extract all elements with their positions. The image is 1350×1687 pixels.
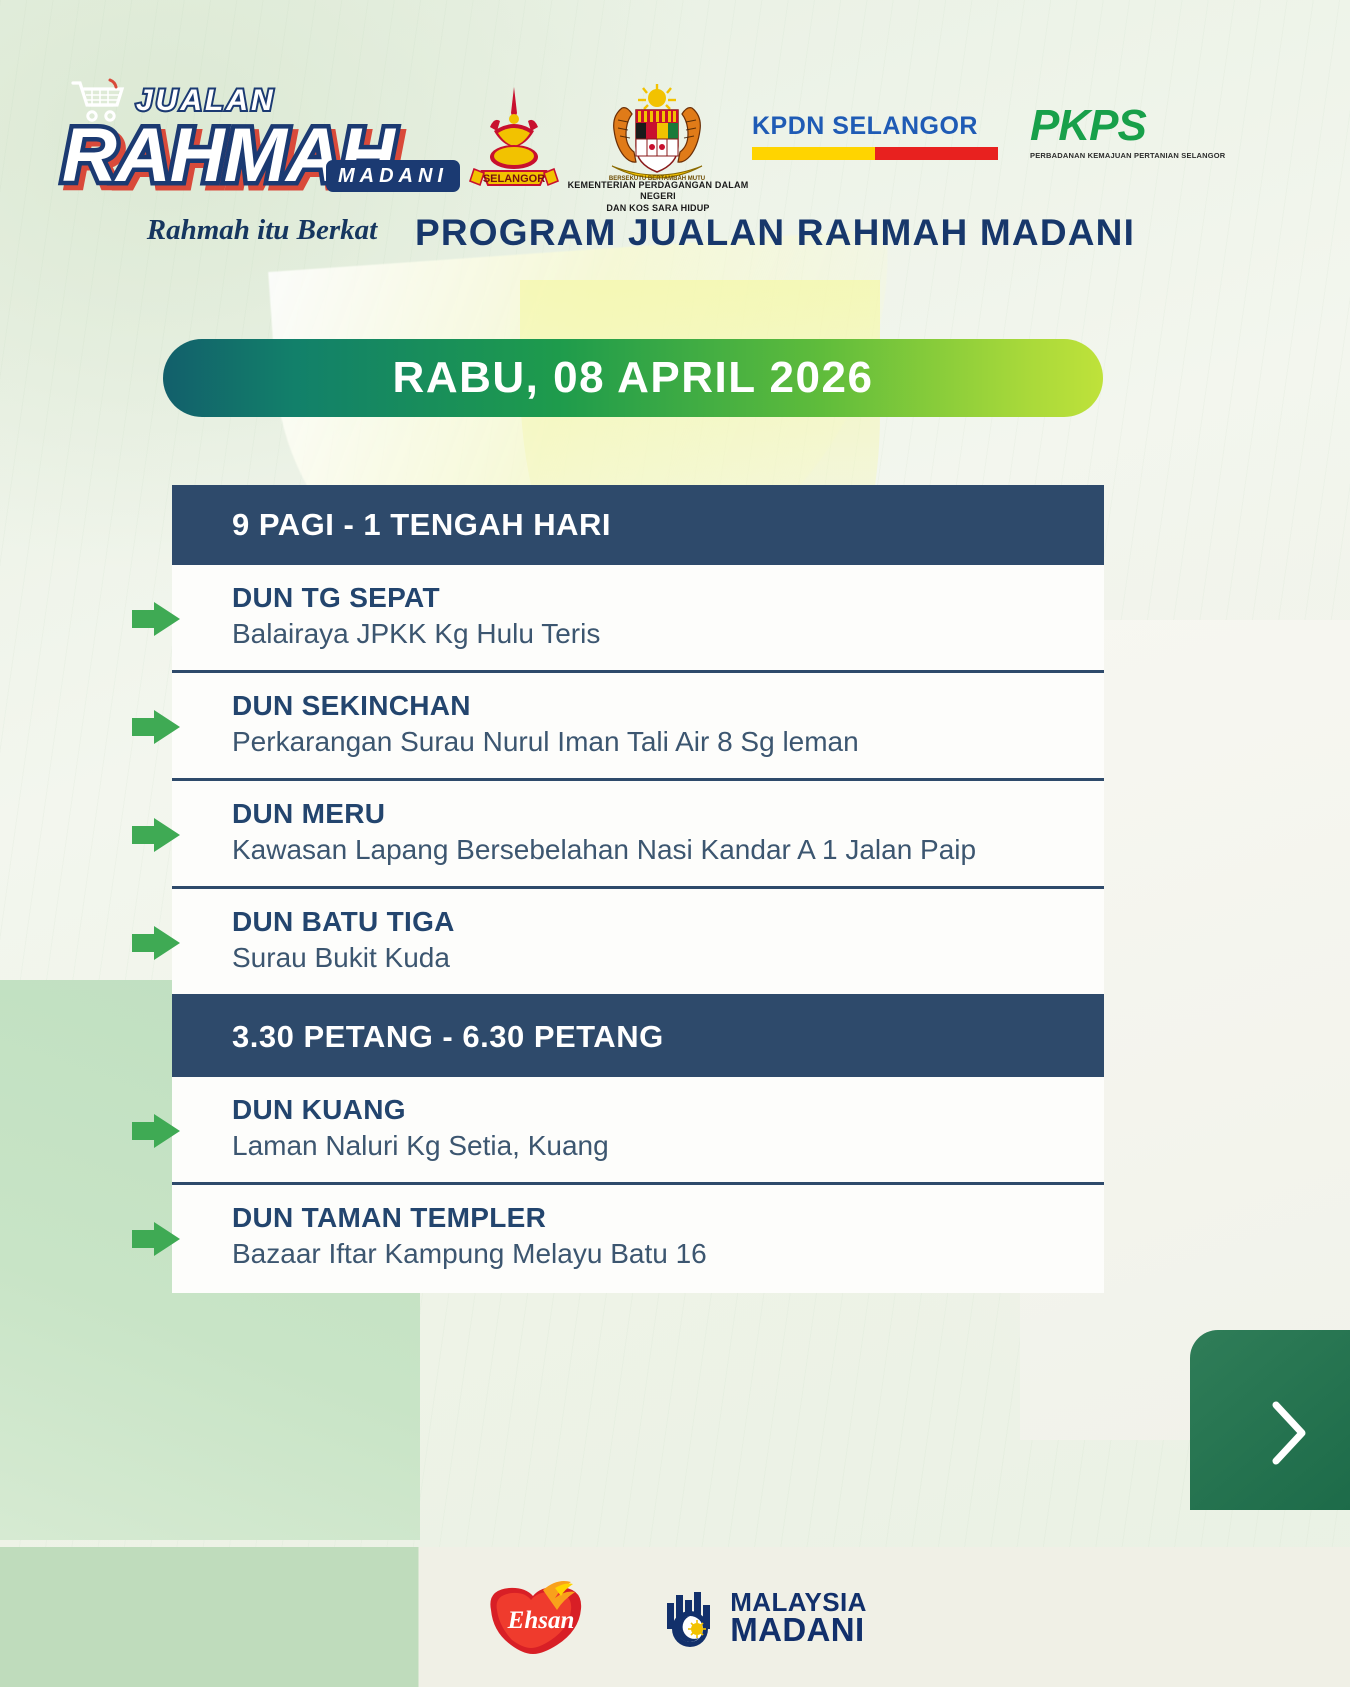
malaysia-madani-logo: MALAYSIA MADANI (659, 1587, 867, 1649)
session-time-header: 3.30 PETANG - 6.30 PETANG (172, 997, 1104, 1077)
pkps-logo: PKPS PERBADANAN KEMAJUAN PERTANIAN SELAN… (1030, 104, 1200, 160)
footer-logos: Ehsan (0, 1575, 1350, 1661)
bar-yellow (752, 147, 875, 160)
malaysia-madani-text: MALAYSIA MADANI (730, 1591, 867, 1645)
ministry-caption: KEMENTERIAN PERDAGANGAN DALAM NEGERI DAN… (556, 180, 760, 214)
chevron-right-icon[interactable] (1262, 1397, 1314, 1469)
arrow-right-marker-icon (132, 926, 180, 960)
svg-text:Ehsan: Ehsan (507, 1607, 575, 1634)
pkps-wordmark: PKPS (1030, 104, 1200, 148)
entry-location: Bazaar Iftar Kampung Melayu Batu 16 (232, 1236, 1082, 1272)
ehsan-logo-icon: Ehsan (483, 1580, 607, 1656)
arrow-right-marker-icon (132, 1114, 180, 1148)
session-time-header: 9 PAGI - 1 TENGAH HARI (172, 485, 1104, 565)
ministry-line-1: KEMENTERIAN PERDAGANGAN DALAM NEGERI (556, 180, 760, 203)
madani-label: MADANI (730, 1615, 867, 1645)
malaysia-madani-icon (659, 1587, 721, 1649)
arrow-right-marker-icon (132, 602, 180, 636)
arrow-right-marker-icon (132, 818, 180, 852)
schedule-entry: DUN MERUKawasan Lapang Bersebelahan Nasi… (172, 781, 1104, 889)
entry-dun-name: DUN SEKINCHAN (232, 689, 1082, 723)
entry-dun-name: DUN MERU (232, 797, 1082, 831)
entry-location: Kawasan Lapang Bersebelahan Nasi Kandar … (232, 832, 1082, 868)
logo-madani-text: MADANI (338, 165, 448, 187)
kpdn-selangor-logo: KPDN SELANGOR (752, 112, 1000, 160)
schedule-entry: DUN BATU TIGASurau Bukit Kuda (172, 889, 1104, 997)
kpdn-selangor-color-bars (752, 147, 998, 160)
kpdn-selangor-text: KPDN SELANGOR (752, 112, 1000, 141)
schedule-entry: DUN TAMAN TEMPLERBazaar Iftar Kampung Me… (172, 1185, 1104, 1293)
schedule-entry: DUN SEKINCHANPerkarangan Surau Nurul Ima… (172, 673, 1104, 781)
arrow-right-marker-icon (132, 710, 180, 744)
entry-location: Balairaya JPKK Kg Hulu Teris (232, 616, 1082, 652)
entry-location: Surau Bukit Kuda (232, 940, 1082, 976)
pkps-subtitle: PERBADANAN KEMAJUAN PERTANIAN SELANGOR (1030, 151, 1200, 160)
schedule-list: 9 PAGI - 1 TENGAH HARIDUN TG SEPATBalair… (172, 485, 1104, 1293)
date-banner: RABU, 08 APRIL 2026 (163, 339, 1103, 417)
entry-location: Perkarangan Surau Nurul Iman Tali Air 8 … (232, 724, 1082, 760)
logo-madani-badge: MADANI (326, 160, 460, 192)
selangor-crest-icon: SELANGOR (468, 83, 560, 195)
entry-location: Laman Naluri Kg Setia, Kuang (232, 1128, 1082, 1164)
bar-red (875, 147, 998, 160)
entry-dun-name: DUN TAMAN TEMPLER (232, 1201, 1082, 1235)
entry-dun-name: DUN BATU TIGA (232, 905, 1082, 939)
entry-dun-name: DUN TG SEPAT (232, 581, 1082, 615)
schedule-entry: DUN TG SEPATBalairaya JPKK Kg Hulu Teris (172, 565, 1104, 673)
schedule-entry: DUN KUANGLaman Naluri Kg Setia, Kuang (172, 1077, 1104, 1185)
page-title: PROGRAM JUALAN RAHMAH MADANI (0, 212, 1350, 254)
date-text: RABU, 08 APRIL 2026 (393, 353, 874, 403)
entry-dun-name: DUN KUANG (232, 1093, 1082, 1127)
page-header: JUALAN RAHMAH RAHMAH MADANI Rahmah itu B… (0, 0, 1350, 280)
svg-text:SELANGOR: SELANGOR (483, 173, 545, 185)
arrow-right-marker-icon (132, 1222, 180, 1256)
